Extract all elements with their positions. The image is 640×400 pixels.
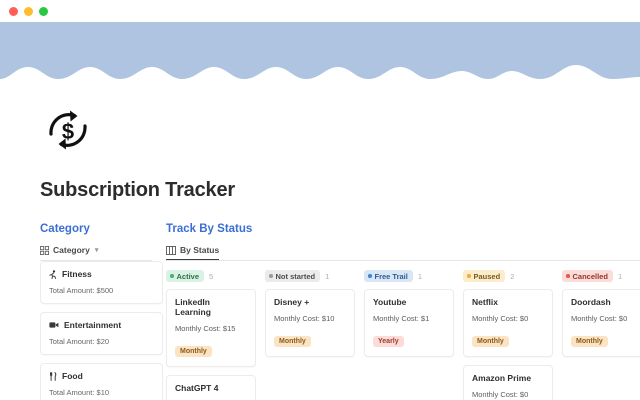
status-label: Active xyxy=(177,272,200,281)
category-name: Food xyxy=(62,371,83,381)
subscription-cost: Monthly Cost: $1 xyxy=(373,314,445,323)
subscription-card[interactable]: Youtube Monthly Cost: $1 Yearly xyxy=(364,289,454,357)
billing-cycle-tag: Monthly xyxy=(472,336,509,347)
board-column-not-started: Not started 1 Disney + Monthly Cost: $10… xyxy=(265,270,355,400)
chevron-down-icon[interactable]: ▾ xyxy=(95,246,99,254)
window-maximize-button[interactable] xyxy=(39,7,48,16)
category-card[interactable]: Food Total Amount: $10 xyxy=(40,363,163,400)
status-count: 1 xyxy=(325,272,329,281)
status-count: 1 xyxy=(418,272,422,281)
status-label: Free Trail xyxy=(375,272,408,281)
status-badge[interactable]: Paused xyxy=(463,270,505,282)
page-title: Subscription Tracker xyxy=(40,179,640,202)
status-bullet-icon xyxy=(566,274,570,278)
category-total-amount: Total Amount: $20 xyxy=(49,337,154,346)
category-name: Fitness xyxy=(62,269,92,279)
subscription-name: ChatGPT 4 xyxy=(175,383,247,393)
category-panel: Category Category ▾ xyxy=(40,223,163,400)
status-label: Not started xyxy=(276,272,316,281)
status-section-title: Track By Status xyxy=(166,223,640,235)
subscription-card[interactable]: Disney + Monthly Cost: $10 Monthly xyxy=(265,289,355,357)
status-bullet-icon xyxy=(170,274,174,278)
category-card[interactable]: Entertainment Total Amount: $20 xyxy=(40,312,163,355)
billing-cycle-tag: Monthly xyxy=(571,336,608,347)
billing-cycle-tag: Monthly xyxy=(274,336,311,347)
subscription-name: Disney + xyxy=(274,297,346,307)
status-count: 5 xyxy=(209,272,213,281)
subscription-cost: Monthly Cost: $15 xyxy=(175,324,247,333)
subscription-cost: Monthly Cost: $0 xyxy=(472,390,544,399)
page-banner xyxy=(0,22,640,86)
category-view-selector[interactable]: Category ▾ xyxy=(40,245,152,261)
page-content: $ Subscription Tracker Category Category… xyxy=(0,86,640,400)
status-panel: Track By Status By Status xyxy=(163,223,640,400)
status-label: Paused xyxy=(474,272,501,281)
category-total-amount: Total Amount: $10 xyxy=(49,388,154,397)
category-view-label: Category xyxy=(53,245,90,255)
subscription-card[interactable]: ChatGPT 4 Monthly Cost: $20 Monthly xyxy=(166,375,256,400)
cutlery-icon xyxy=(49,372,57,381)
subscription-name: Netflix xyxy=(472,297,544,307)
subscription-name: Doordash xyxy=(571,297,640,307)
category-section-title: Category xyxy=(40,223,163,235)
svg-text:$: $ xyxy=(62,119,74,144)
status-board: Active 5 LinkedIn Learning Monthly Cost:… xyxy=(166,270,640,400)
subscription-name: LinkedIn Learning xyxy=(175,297,247,317)
banner-scallop-shape xyxy=(0,65,640,86)
status-bullet-icon xyxy=(467,274,471,278)
board-column-free-trail: Free Trail 1 Youtube Monthly Cost: $1 Ye… xyxy=(364,270,454,400)
board-icon xyxy=(166,246,176,255)
category-total-amount: Total Amount: $500 xyxy=(49,286,154,295)
subscription-card[interactable]: Doordash Monthly Cost: $0 Monthly xyxy=(562,289,640,357)
billing-cycle-tag: Yearly xyxy=(373,336,404,347)
status-badge[interactable]: Cancelled xyxy=(562,270,613,282)
status-badge[interactable]: Free Trail xyxy=(364,270,413,282)
category-name: Entertainment xyxy=(64,320,121,330)
status-bullet-icon xyxy=(269,274,273,278)
video-camera-icon xyxy=(49,321,59,329)
billing-cycle-tag: Monthly xyxy=(175,346,212,357)
category-card[interactable]: Fitness Total Amount: $500 xyxy=(40,261,163,304)
subscription-card[interactable]: Netflix Monthly Cost: $0 Monthly xyxy=(463,289,553,357)
grid-icon xyxy=(40,246,49,255)
runner-icon xyxy=(49,270,57,279)
currency-refresh-icon: $ xyxy=(40,102,96,158)
status-badge[interactable]: Active xyxy=(166,270,204,282)
subscription-name: Youtube xyxy=(373,297,445,307)
tab-by-status[interactable]: By Status xyxy=(166,245,219,260)
subscription-cost: Monthly Cost: $0 xyxy=(571,314,640,323)
status-badge[interactable]: Not started xyxy=(265,270,320,282)
board-column-active: Active 5 LinkedIn Learning Monthly Cost:… xyxy=(166,270,256,400)
category-card-list: Fitness Total Amount: $500 Entertainmen xyxy=(40,261,163,400)
subscription-card[interactable]: LinkedIn Learning Monthly Cost: $15 Mont… xyxy=(166,289,256,367)
board-column-paused: Paused 2 Netflix Monthly Cost: $0 Monthl… xyxy=(463,270,553,400)
tab-by-status-label: By Status xyxy=(180,245,219,255)
status-bullet-icon xyxy=(368,274,372,278)
subscription-cost: Monthly Cost: $10 xyxy=(274,314,346,323)
status-label: Cancelled xyxy=(573,272,608,281)
window-minimize-button[interactable] xyxy=(24,7,33,16)
window-titlebar xyxy=(0,0,640,22)
subscription-cost: Monthly Cost: $0 xyxy=(472,314,544,323)
window-close-button[interactable] xyxy=(9,7,18,16)
board-column-cancelled: Cancelled 1 Doordash Monthly Cost: $0 Mo… xyxy=(562,270,640,400)
subscription-card[interactable]: Amazon Prime Monthly Cost: $0 Monthly xyxy=(463,365,553,400)
status-count: 2 xyxy=(510,272,514,281)
status-count: 1 xyxy=(618,272,622,281)
subscription-name: Amazon Prime xyxy=(472,373,544,383)
